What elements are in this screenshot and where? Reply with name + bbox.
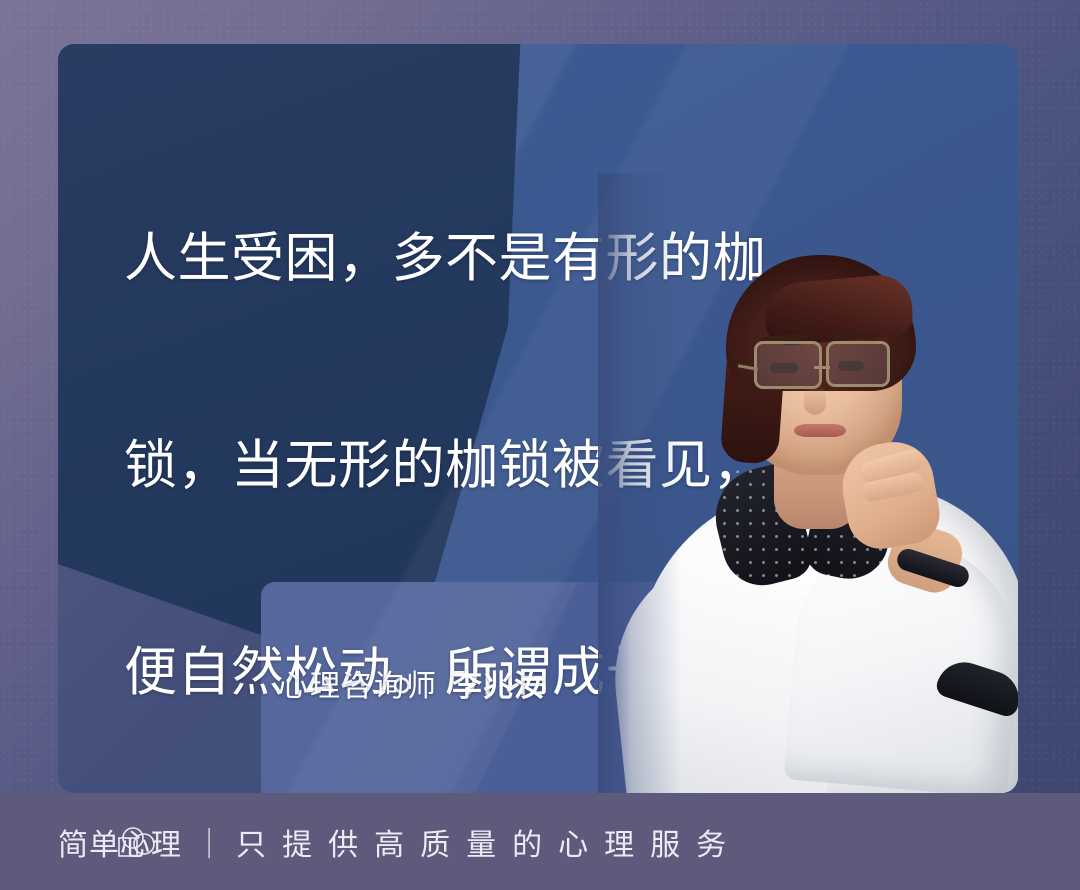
portrait-glasses-lens-left [754, 341, 822, 389]
quote-card: 人生受困，多不是有形的枷 锁，当无形的枷锁被看见， 便自然松动。所谓成长，是 不… [58, 44, 1018, 793]
counselor-name: 李兆汝 [452, 669, 545, 704]
portrait-glasses-bridge [814, 366, 830, 369]
counselor-portrait [598, 173, 1018, 793]
brand-name: 简单心理 [58, 820, 182, 864]
portrait-mouth [794, 424, 846, 437]
footer-bar: 简单心理 | 只提供高质量的心理服务 [0, 793, 1080, 890]
quote-poster: 人生受困，多不是有形的枷 锁，当无形的枷锁被看见， 便自然松动。所谓成长，是 不… [0, 0, 1080, 890]
portrait-glasses-lens-right [826, 341, 890, 387]
counselor-role: 心理咨询师 [278, 669, 438, 704]
overlapping-circles-square-logo-icon [116, 825, 160, 859]
footer-tagline: 只提供高质量的心理服务 [236, 820, 742, 864]
portrait-nose [804, 385, 826, 415]
footer-separator: | [204, 824, 214, 859]
footer-content: 简单心理 | 只提供高质量的心理服务 [58, 820, 742, 864]
attribution: 心理咨询师李兆汝 [278, 661, 545, 705]
